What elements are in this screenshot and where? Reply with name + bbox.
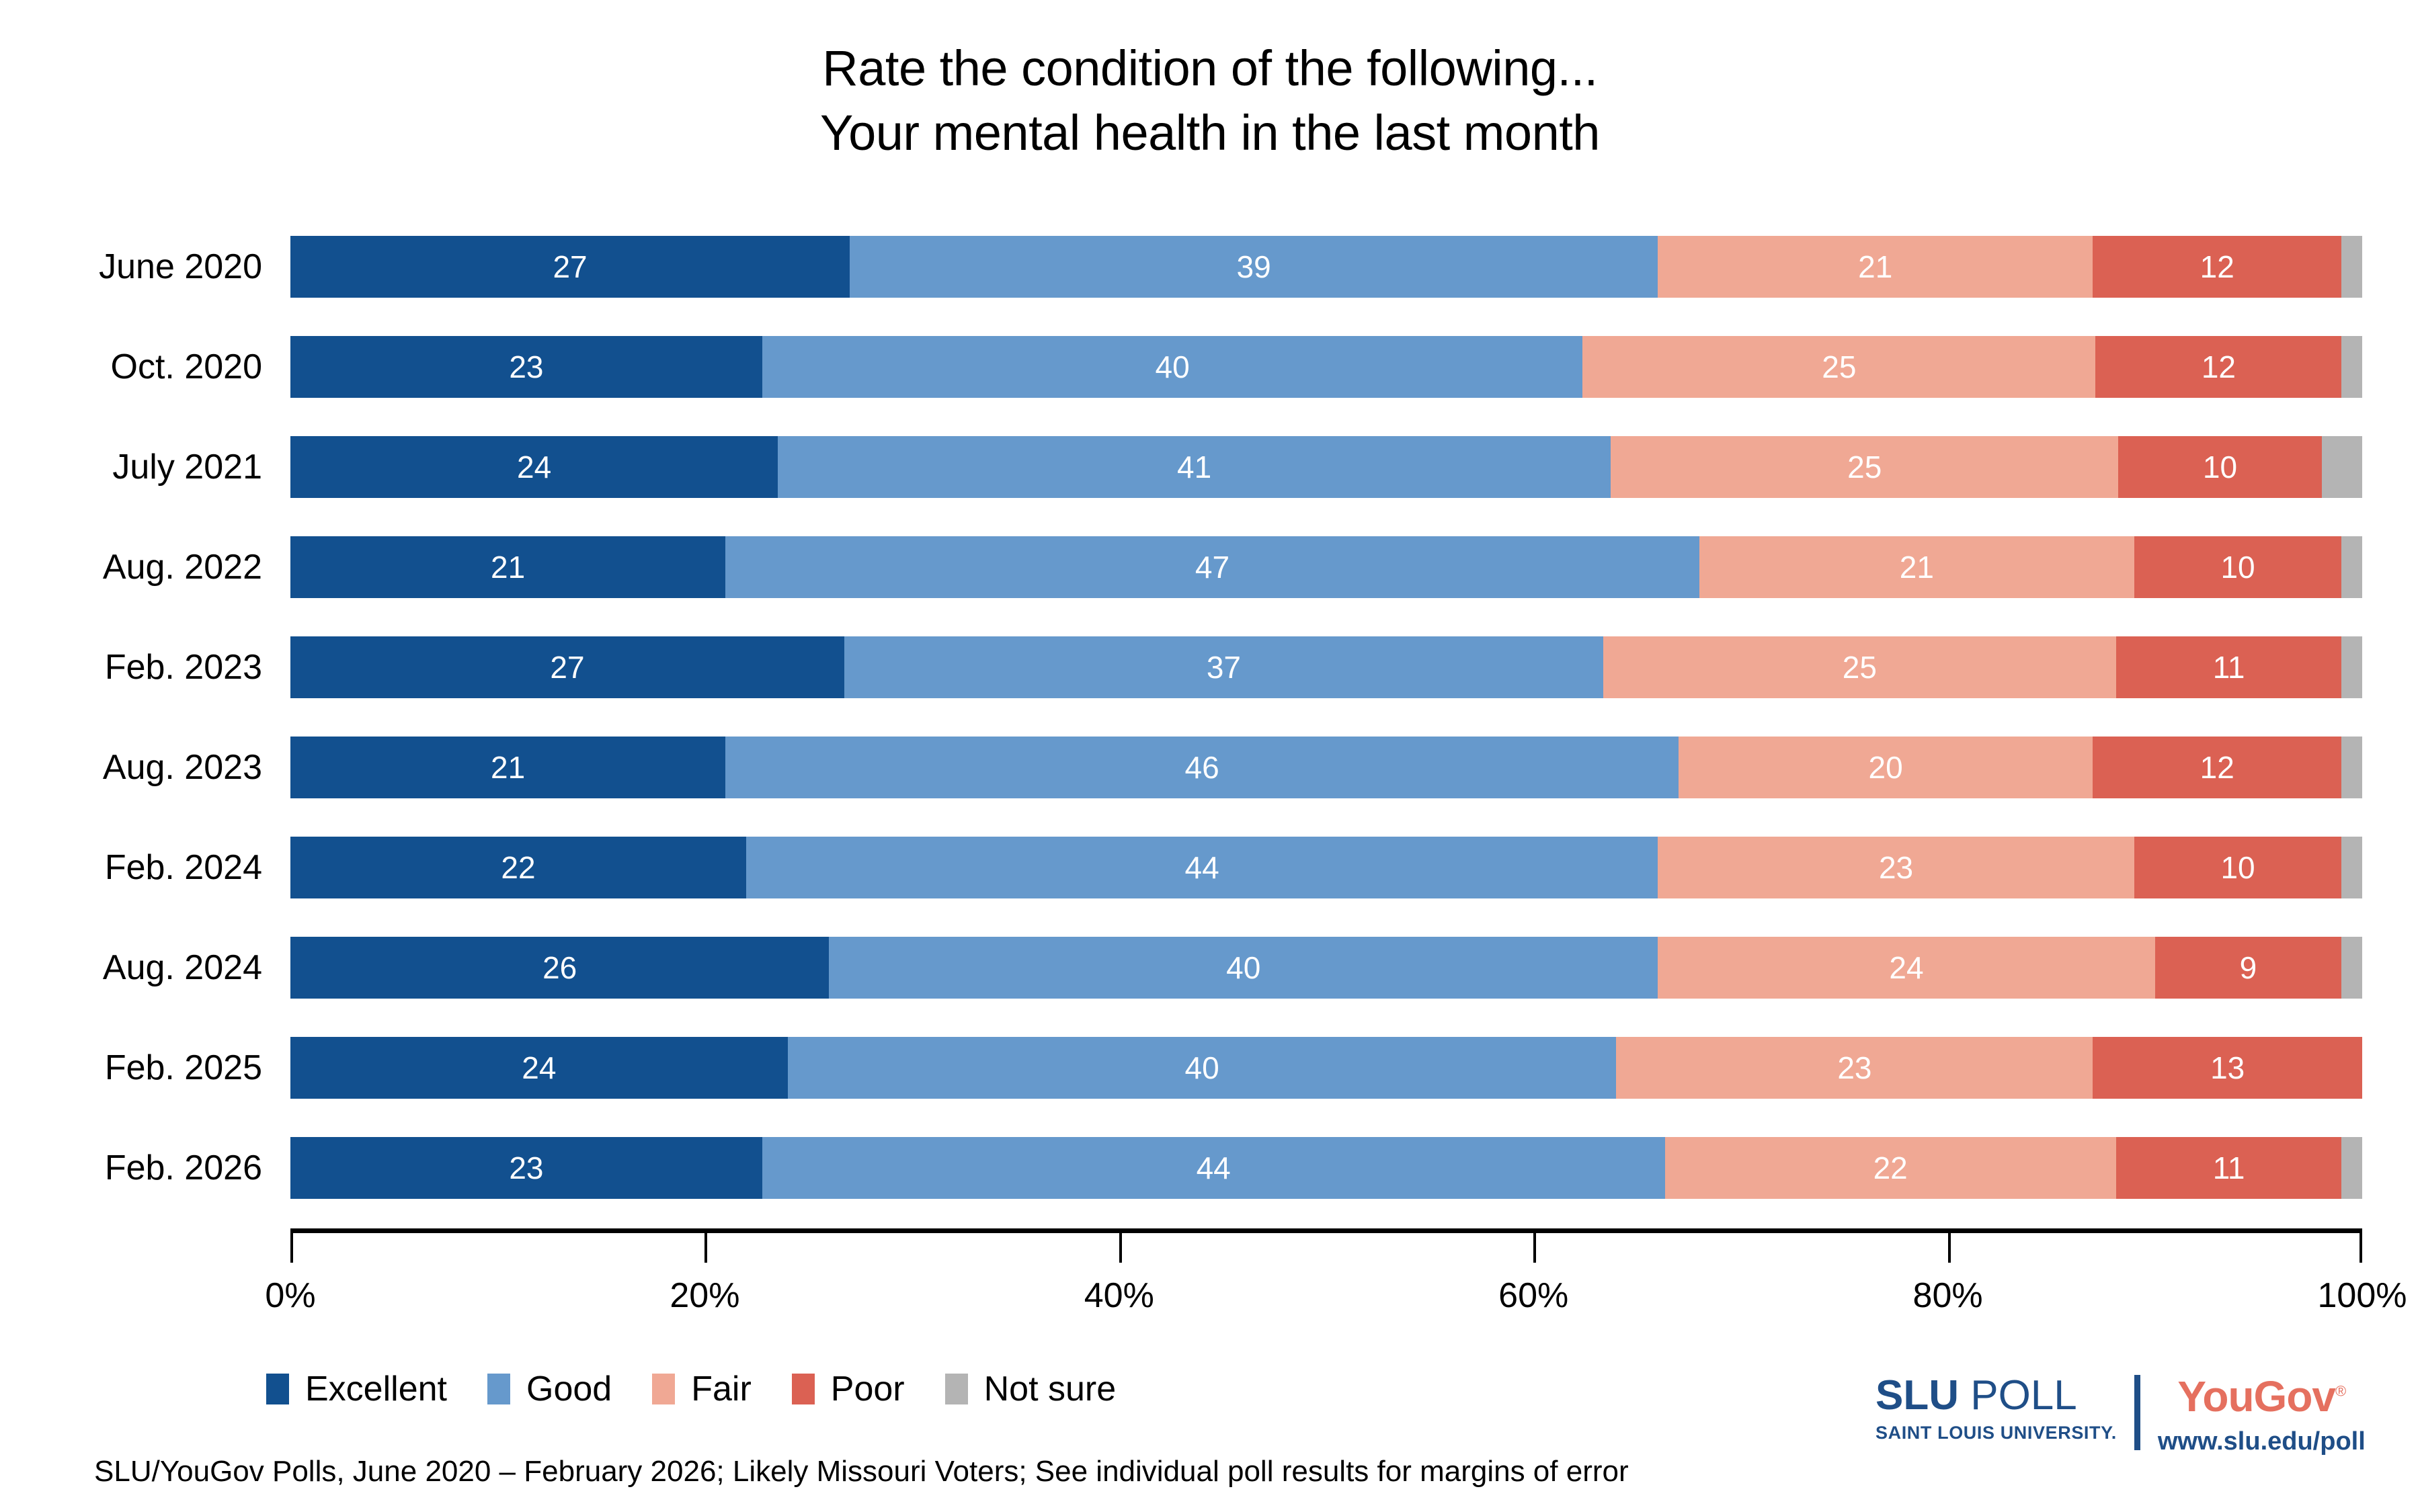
title-line-1: Rate the condition of the following... — [0, 36, 2420, 101]
page-title: Rate the condition of the following... Y… — [0, 36, 2420, 165]
legend-swatch-icon — [652, 1374, 675, 1404]
slu-poll-wordmark: SLU POLL — [1876, 1375, 2117, 1417]
bar-value-label: 21 — [1858, 251, 1892, 282]
bar-segment-poor[interactable]: 12 — [2093, 236, 2341, 298]
bar-value-label: 12 — [2200, 752, 2234, 783]
bar-value-label: 23 — [1837, 1052, 1871, 1083]
x-axis — [290, 1228, 2362, 1269]
y-axis-label: Feb. 2026 — [0, 1150, 262, 1185]
saint-louis-university-text: SAINT LOUIS UNIVERSITY. — [1876, 1424, 2117, 1442]
bar-value-label: 40 — [1184, 1052, 1219, 1083]
footer-source-note: SLU/YouGov Polls, June 2020 – February 2… — [94, 1457, 1629, 1486]
bar-segment-poor[interactable]: 11 — [2116, 1137, 2342, 1199]
bar-value-label: 10 — [2203, 452, 2237, 482]
bar-value-label: 11 — [2213, 652, 2245, 683]
legend-swatch-icon — [945, 1374, 968, 1404]
legend-label: Fair — [691, 1372, 752, 1406]
bar-segment-good[interactable]: 44 — [746, 837, 1658, 898]
bar-track: 24402313 — [290, 1037, 2362, 1099]
bar-value-label: 22 — [501, 852, 535, 883]
bar-value-label: 44 — [1197, 1152, 1231, 1183]
bar-value-label: 24 — [1889, 952, 1923, 983]
x-axis-tick — [1948, 1233, 1951, 1263]
legend-swatch-icon — [266, 1374, 289, 1404]
yougov-wordmark: YouGov® — [2177, 1375, 2345, 1418]
bar-row: 27372511 — [290, 636, 2362, 698]
bar-segment-good[interactable]: 41 — [778, 436, 1611, 498]
bar-segment-good[interactable]: 46 — [725, 737, 1679, 798]
bar-segment-good[interactable]: 40 — [762, 336, 1583, 398]
bar-track: 24412510 — [290, 436, 2362, 498]
x-axis-tick — [290, 1233, 293, 1263]
bar-segment-poor[interactable]: 13 — [2093, 1037, 2362, 1099]
x-axis-tick-label: 60% — [1498, 1278, 1568, 1313]
bar-row: 23442211 — [290, 1137, 2362, 1199]
bar-segment-fair[interactable]: 25 — [1582, 336, 2095, 398]
x-axis-line — [290, 1228, 2362, 1233]
x-axis-tick-label: 80% — [1913, 1278, 1983, 1313]
bar-segment-excellent[interactable]: 23 — [290, 336, 762, 398]
bar-segment-fair[interactable]: 23 — [1616, 1037, 2093, 1099]
bar-value-label: 26 — [542, 952, 577, 983]
bar-row: 21472110 — [290, 536, 2362, 598]
x-axis-tick-labels: 0%20%40%60%80%100% — [0, 1278, 2420, 1325]
legend-item-fair[interactable]: Fair — [652, 1372, 752, 1406]
x-axis-tick — [1119, 1233, 1122, 1263]
bar-value-label: 25 — [1847, 452, 1882, 482]
poll-text: POLL — [1959, 1372, 2077, 1419]
bar-value-label: 21 — [1900, 552, 1934, 583]
bar-value-label: 40 — [1226, 952, 1260, 983]
bar-row: 27392112 — [290, 236, 2362, 298]
y-axis-label: Aug. 2023 — [0, 750, 262, 785]
y-axis-label: June 2020 — [0, 249, 262, 284]
bar-value-label: 24 — [517, 452, 551, 482]
bar-segment-not-sure[interactable] — [2341, 636, 2362, 698]
y-axis-label: Aug. 2022 — [0, 550, 262, 585]
bar-track: 23442211 — [290, 1137, 2362, 1199]
registered-trademark-icon: ® — [2335, 1383, 2345, 1400]
legend-swatch-icon — [487, 1374, 510, 1404]
bar-segment-poor[interactable]: 10 — [2134, 536, 2341, 598]
chart-legend: ExcellentGoodFairPoorNot sure — [266, 1368, 1156, 1410]
bar-segment-poor[interactable]: 12 — [2093, 737, 2341, 798]
yougov-label: YouGov — [2177, 1372, 2335, 1421]
legend-label: Poor — [831, 1372, 905, 1406]
bar-value-label: 10 — [2220, 552, 2255, 583]
bar-segment-poor[interactable]: 9 — [2155, 937, 2341, 999]
logo-divider — [2134, 1375, 2140, 1450]
bar-segment-not-sure[interactable] — [2341, 336, 2362, 398]
bar-segment-not-sure[interactable] — [2341, 837, 2362, 898]
bar-segment-poor[interactable]: 11 — [2116, 636, 2342, 698]
bar-segment-fair[interactable]: 21 — [1658, 236, 2093, 298]
bar-value-label: 9 — [2240, 952, 2257, 983]
bar-segment-fair[interactable]: 25 — [1603, 636, 2116, 698]
bar-row: 22442310 — [290, 837, 2362, 898]
bar-row: 21462012 — [290, 737, 2362, 798]
bar-value-label: 44 — [1184, 852, 1219, 883]
bar-segment-good[interactable]: 37 — [844, 636, 1603, 698]
bar-value-label: 12 — [2202, 351, 2236, 382]
x-axis-tick — [704, 1233, 707, 1263]
x-axis-tick-label: 40% — [1084, 1278, 1154, 1313]
slu-poll-url[interactable]: www.slu.edu/poll — [2158, 1429, 2366, 1454]
chart-plot-area: 2739211223402512244125102147211027372511… — [290, 216, 2362, 1218]
bar-value-label: 23 — [509, 351, 543, 382]
x-axis-tick-label: 20% — [670, 1278, 739, 1313]
bar-value-label: 10 — [2220, 852, 2255, 883]
bar-value-label: 11 — [2213, 1152, 2245, 1183]
bar-segment-poor[interactable]: 10 — [2118, 436, 2321, 498]
y-axis-label: Aug. 2024 — [0, 950, 262, 985]
bar-value-label: 27 — [550, 652, 584, 683]
bar-segment-good[interactable]: 47 — [725, 536, 1699, 598]
x-axis-tick-label: 100% — [2318, 1278, 2407, 1313]
bar-segment-not-sure[interactable] — [2341, 1137, 2362, 1199]
bar-value-label: 39 — [1237, 251, 1271, 282]
legend-item-poor[interactable]: Poor — [792, 1372, 905, 1406]
bar-segment-fair[interactable]: 20 — [1679, 737, 2093, 798]
logo-block: SLU POLL SAINT LOUIS UNIVERSITY. YouGov®… — [1876, 1375, 2386, 1493]
bar-value-label: 23 — [509, 1152, 543, 1183]
y-axis-label: Oct. 2020 — [0, 349, 262, 384]
legend-label: Not sure — [984, 1372, 1117, 1406]
title-line-2: Your mental health in the last month — [0, 101, 2420, 165]
bar-value-label: 20 — [1869, 752, 1903, 783]
legend-label: Good — [526, 1372, 612, 1406]
x-axis-tick — [1533, 1233, 1536, 1263]
y-axis-labels: June 2020Oct. 2020July 2021Aug. 2022Feb.… — [0, 216, 262, 1218]
slu-bold-text: SLU — [1876, 1372, 1959, 1419]
bar-value-label: 41 — [1177, 452, 1211, 482]
bar-value-label: 40 — [1156, 351, 1190, 382]
bar-segment-excellent[interactable]: 22 — [290, 837, 746, 898]
bar-segment-poor[interactable]: 10 — [2134, 837, 2341, 898]
bar-track: 21472110 — [290, 536, 2362, 598]
bar-track: 2640249 — [290, 937, 2362, 999]
bar-segment-fair[interactable]: 23 — [1658, 837, 2134, 898]
legend-swatch-icon — [792, 1374, 815, 1404]
bar-segment-fair[interactable]: 24 — [1658, 937, 2155, 999]
slu-poll-logo: SLU POLL SAINT LOUIS UNIVERSITY. — [1876, 1375, 2117, 1442]
bar-segment-excellent[interactable]: 23 — [290, 1137, 762, 1199]
x-axis-tick-label: 0% — [265, 1278, 315, 1313]
bar-value-label: 13 — [2210, 1052, 2245, 1083]
bar-row: 24402313 — [290, 1037, 2362, 1099]
bar-track: 21462012 — [290, 737, 2362, 798]
bar-value-label: 12 — [2200, 251, 2234, 282]
bar-segment-excellent[interactable]: 27 — [290, 236, 850, 298]
bar-row: 24412510 — [290, 436, 2362, 498]
legend-item-not-sure[interactable]: Not sure — [945, 1372, 1117, 1406]
bar-value-label: 25 — [1822, 351, 1856, 382]
bar-segment-excellent[interactable]: 21 — [290, 536, 725, 598]
bar-value-label: 22 — [1873, 1152, 1908, 1183]
bar-segment-not-sure[interactable] — [2341, 937, 2362, 999]
bar-value-label: 25 — [1843, 652, 1877, 683]
bar-segment-good[interactable]: 39 — [850, 236, 1658, 298]
bar-value-label: 23 — [1879, 852, 1913, 883]
bar-segment-excellent[interactable]: 27 — [290, 636, 844, 698]
x-axis-tick — [2359, 1233, 2362, 1263]
bar-value-label: 21 — [491, 752, 525, 783]
bar-value-label: 24 — [522, 1052, 556, 1083]
bar-segment-poor[interactable]: 12 — [2095, 336, 2341, 398]
y-axis-label: July 2021 — [0, 450, 262, 485]
bar-row: 2640249 — [290, 937, 2362, 999]
bar-track: 27392112 — [290, 236, 2362, 298]
bar-value-label: 37 — [1207, 652, 1241, 683]
bar-segment-fair[interactable]: 21 — [1699, 536, 2134, 598]
bar-value-label: 47 — [1195, 552, 1229, 583]
y-axis-label: Feb. 2024 — [0, 850, 262, 885]
bar-segment-excellent[interactable]: 26 — [290, 937, 829, 999]
bar-value-label: 21 — [491, 552, 525, 583]
bar-segment-fair[interactable]: 25 — [1611, 436, 2118, 498]
bar-segment-excellent[interactable]: 24 — [290, 1037, 788, 1099]
y-axis-label: Feb. 2023 — [0, 650, 262, 685]
bar-segment-good[interactable]: 40 — [829, 937, 1658, 999]
bar-track: 22442310 — [290, 837, 2362, 898]
bar-track: 23402512 — [290, 336, 2362, 398]
yougov-logo: YouGov® www.slu.edu/poll — [2158, 1375, 2366, 1454]
bar-segment-good[interactable]: 40 — [788, 1037, 1617, 1099]
bar-segment-good[interactable]: 44 — [762, 1137, 1665, 1199]
legend-item-good[interactable]: Good — [487, 1372, 612, 1406]
bar-segment-not-sure[interactable] — [2341, 536, 2362, 598]
bar-segment-fair[interactable]: 22 — [1665, 1137, 2116, 1199]
bar-segment-not-sure[interactable] — [2322, 436, 2362, 498]
bar-row: 23402512 — [290, 336, 2362, 398]
legend-item-excellent[interactable]: Excellent — [266, 1372, 447, 1406]
bar-track: 27372511 — [290, 636, 2362, 698]
bar-segment-not-sure[interactable] — [2341, 236, 2362, 298]
bar-value-label: 46 — [1184, 752, 1219, 783]
bar-segment-excellent[interactable]: 21 — [290, 737, 725, 798]
bar-segment-excellent[interactable]: 24 — [290, 436, 778, 498]
y-axis-label: Feb. 2025 — [0, 1050, 262, 1085]
legend-label: Excellent — [305, 1372, 447, 1406]
bar-value-label: 27 — [553, 251, 587, 282]
bar-segment-not-sure[interactable] — [2341, 737, 2362, 798]
